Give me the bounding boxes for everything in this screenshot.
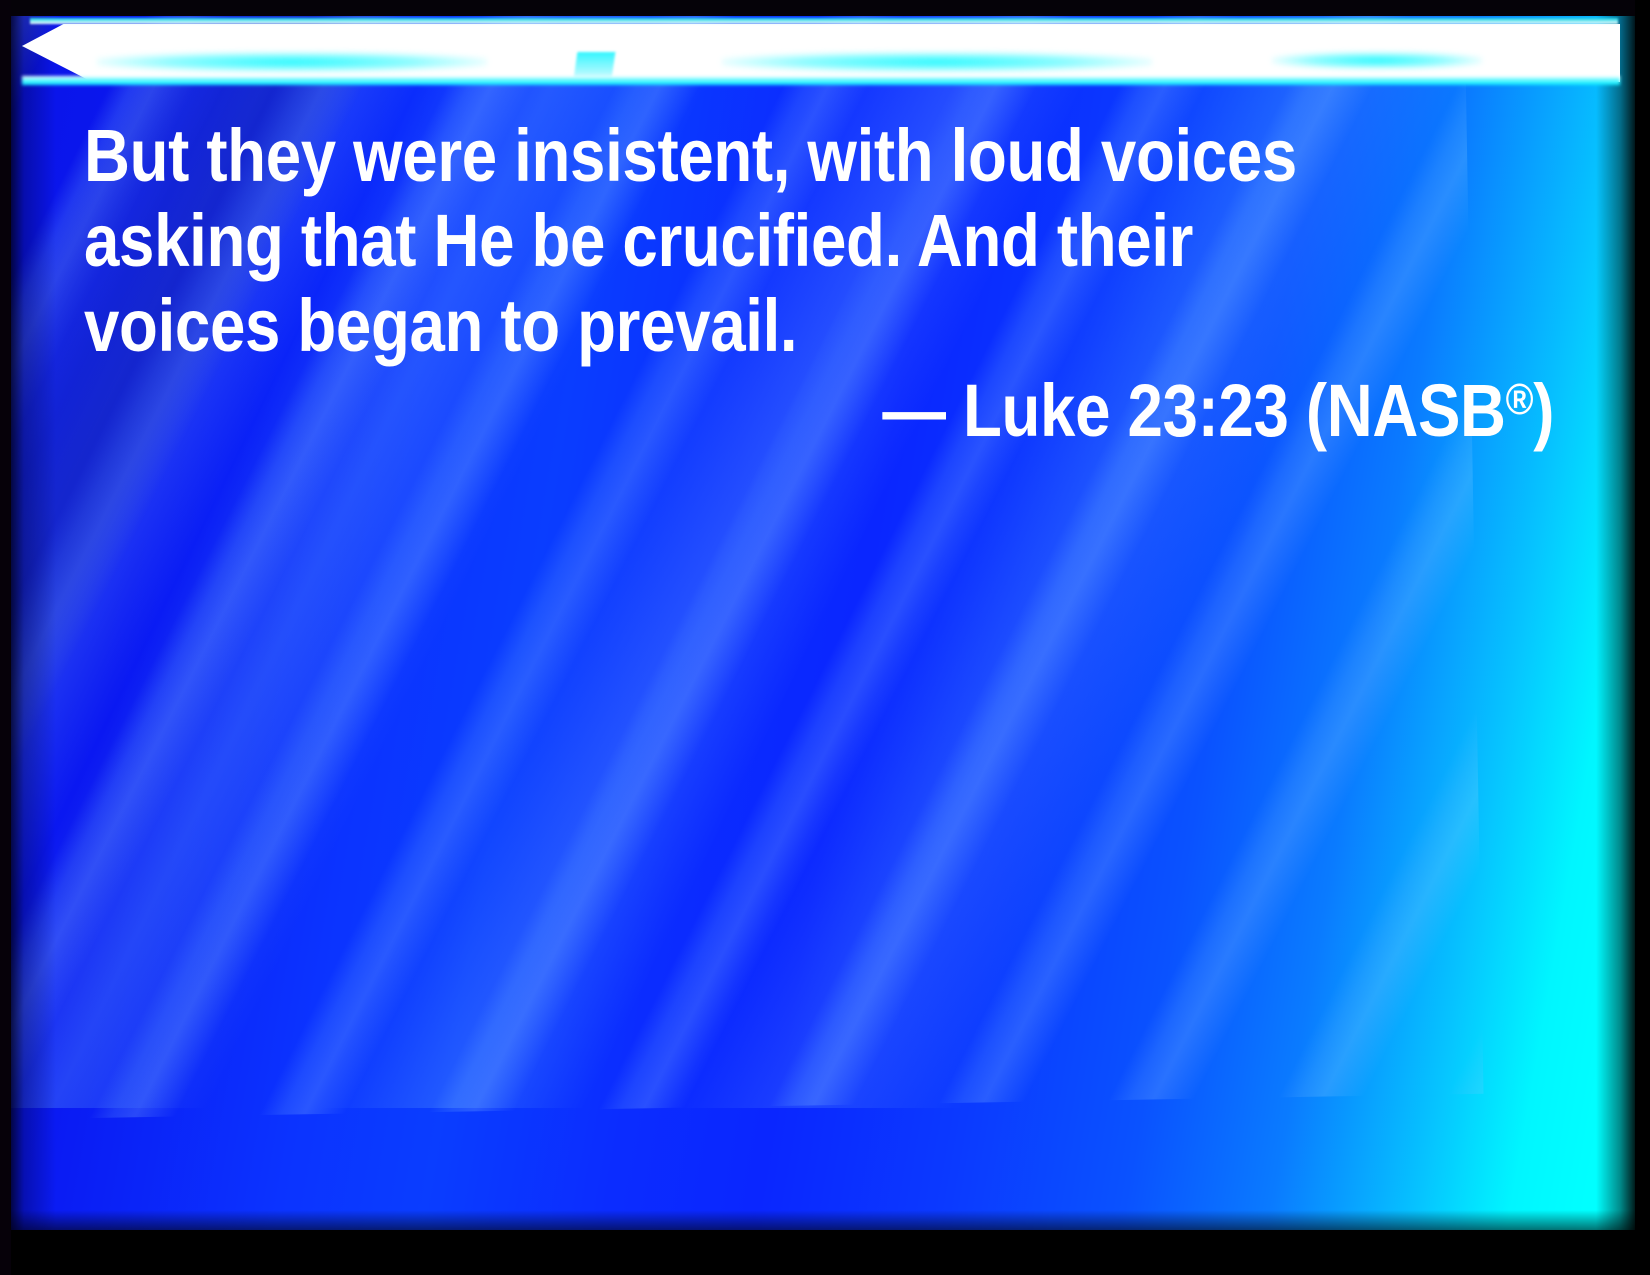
citation-reference: Luke 23:23 (NASB — [963, 369, 1506, 452]
citation-closing-paren: ) — [1533, 369, 1554, 452]
frame-border-left — [0, 0, 11, 1275]
banner-cyan-haze-center — [722, 52, 1152, 72]
verse-line-2: asking that He be crucified. And their — [84, 198, 1348, 283]
frame-border-bottom — [0, 1231, 1650, 1275]
banner-cyan-haze-left — [97, 52, 487, 72]
verse-slide: But they were insistent, with loud voice… — [0, 0, 1650, 1275]
banner-cyan-haze-right — [1272, 52, 1482, 69]
verse-line-3: voices began to prevail. — [84, 283, 1348, 368]
verse-line-1: But they were insistent, with loud voice… — [84, 113, 1348, 198]
verse-citation: — Luke 23:23 (NASB®) — [84, 368, 1554, 453]
frame-border-top — [0, 0, 1650, 16]
citation-em-dash: — — [882, 369, 963, 452]
top-white-banner — [22, 24, 1620, 82]
banner-top-edge-glow — [30, 18, 1618, 24]
frame-border-right — [1635, 0, 1650, 1275]
verse-text-block: But they were insistent, with loud voice… — [84, 113, 1554, 368]
registered-trademark-icon: ® — [1506, 375, 1534, 424]
verse-citation-inner: — Luke 23:23 (NASB®) — [882, 368, 1554, 453]
banner-bottom-edge-glow — [22, 76, 1620, 85]
